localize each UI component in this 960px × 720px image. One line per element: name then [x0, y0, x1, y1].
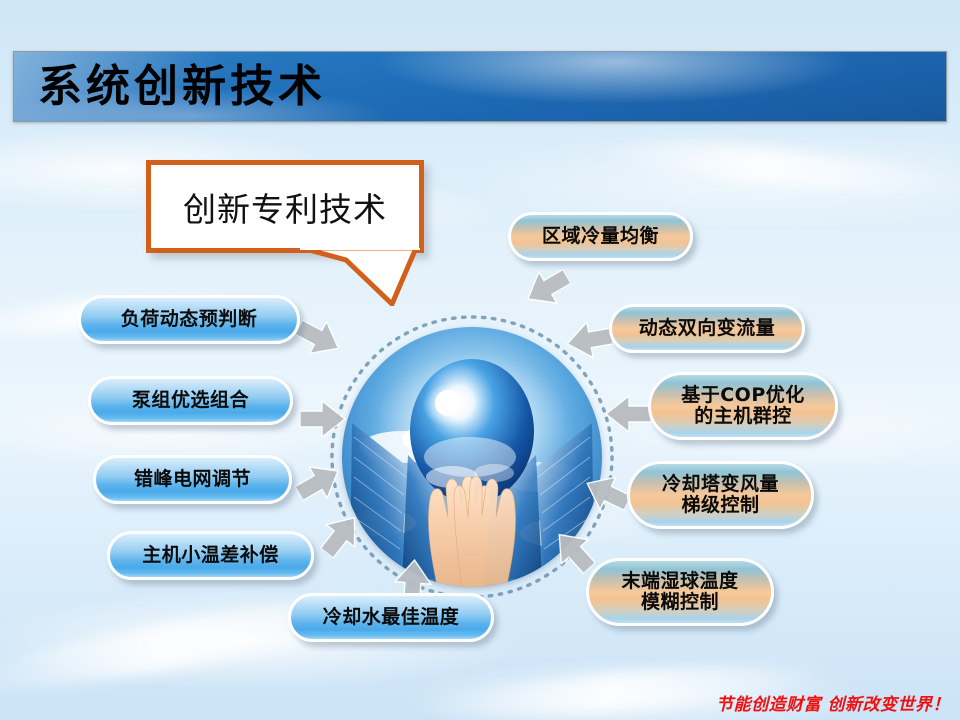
globe-in-hands-illustration [342, 327, 602, 587]
feature-pill-right-label: 区域冷量均衡 [542, 226, 659, 247]
title-banner: 系统创新技术 [13, 51, 947, 122]
feature-pill-left-2[interactable]: 泵组优选组合 [88, 376, 293, 425]
feature-pill-left-4[interactable]: 主机小温差补偿 [107, 531, 314, 580]
center-hero-image [328, 313, 616, 601]
feature-pill-left-label: 负荷动态预判断 [121, 309, 258, 330]
slide-canvas: 系统创新技术 创新专利技术 [0, 0, 960, 720]
cloud-streak [599, 131, 960, 202]
callout-label: 创新专利技术 [183, 183, 387, 231]
feature-pill-left-label: 冷却水最佳温度 [323, 607, 460, 628]
feature-pill-right-1[interactable]: 区域冷量均衡 [508, 212, 693, 261]
feature-pill-right-3[interactable]: 基于COP优化 的主机群控 [648, 372, 838, 440]
arrow-to-center-from-zone-balance-icon [517, 259, 577, 317]
feature-pill-left-label: 泵组优选组合 [132, 390, 249, 411]
feature-pill-left-3[interactable]: 错峰电网调节 [93, 455, 292, 504]
footer-slogan: 节能创造财富 创新改变世界！ [705, 690, 950, 715]
callout-pointer-icon [300, 248, 420, 306]
feature-pill-left-5[interactable]: 冷却水最佳温度 [288, 593, 494, 642]
feature-pill-right-5[interactable]: 末端湿球温度 模糊控制 [586, 558, 774, 626]
feature-pill-right-2[interactable]: 动态双向变流量 [609, 304, 805, 353]
feature-pill-left-1[interactable]: 负荷动态预判断 [78, 295, 300, 344]
feature-pill-right-label: 动态双向变流量 [639, 318, 776, 339]
feature-pill-left-label: 错峰电网调节 [134, 469, 251, 490]
feature-pill-right-4[interactable]: 冷却塔变风量 梯级控制 [627, 461, 814, 529]
feature-pill-right-label: 基于COP优化 的主机群控 [681, 385, 805, 428]
feature-pill-left-label: 主机小温差补偿 [142, 545, 279, 566]
feature-pill-right-label: 末端湿球温度 模糊控制 [621, 571, 738, 614]
page-title: 系统创新技术 [38, 65, 326, 109]
globe-in-hands-photo [342, 327, 602, 587]
feature-pill-right-label: 冷却塔变风量 梯级控制 [662, 474, 779, 517]
callout-bubble: 创新专利技术 [146, 160, 424, 253]
